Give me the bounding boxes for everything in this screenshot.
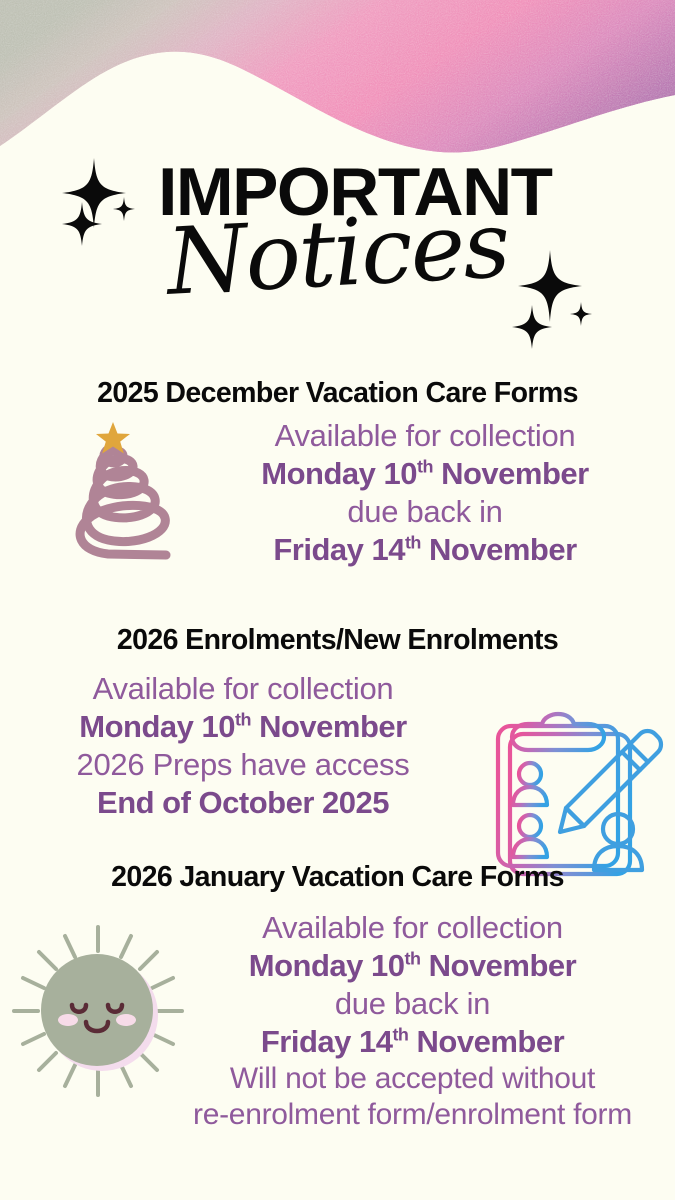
section-lines: Available for collection Monday 10th Nov…: [8, 670, 478, 821]
section-heading: 2026 Enrolments/New Enrolments: [0, 625, 675, 656]
line-available: Available for collection: [150, 909, 675, 947]
line-monday: Monday 10th November: [150, 947, 675, 985]
line-monday: Monday 10th November: [185, 455, 665, 493]
line-preps-access: 2026 Preps have access: [8, 746, 478, 784]
section-lines: Available for collection Monday 10th Nov…: [185, 417, 665, 568]
line-warning-2: re-enrolment form/enrolment form: [150, 1097, 675, 1134]
section-heading: 2026 January Vacation Care Forms: [0, 862, 675, 893]
christmas-tree-icon: [48, 419, 178, 589]
section-lines: Available for collection Monday 10th Nov…: [150, 909, 675, 1133]
sparkle-star-medium-right-icon: [512, 305, 552, 349]
line-available: Available for collection: [185, 417, 665, 455]
notice-section-january-vacation-care: 2026 January Vacation Care Forms: [0, 862, 675, 1193]
line-friday: Friday 14th November: [150, 1023, 675, 1061]
important-notices-poster: IMPORTANT Notices 2025 December Vacation…: [0, 0, 675, 1200]
clipboard-pencil-icon: [482, 704, 674, 884]
line-end-of-october: End of October 2025: [8, 784, 478, 822]
line-due-back: due back in: [185, 493, 665, 531]
sparkle-star-small-right-icon: [570, 302, 592, 326]
notice-section-2026-enrolments: 2026 Enrolments/New Enrolments Available…: [0, 625, 675, 841]
line-friday: Friday 14th November: [185, 531, 665, 569]
line-available: Available for collection: [8, 670, 478, 708]
poster-title-block: IMPORTANT Notices: [0, 150, 675, 370]
line-due-back: due back in: [150, 985, 675, 1023]
sun-face: [41, 954, 153, 1066]
notice-section-december-vacation-care: 2025 December Vacation Care Forms Availa…: [0, 378, 675, 589]
line-warning-1: Will not be accepted without: [150, 1061, 675, 1098]
section-heading: 2025 December Vacation Care Forms: [0, 378, 675, 409]
line-monday: Monday 10th November: [8, 708, 478, 746]
